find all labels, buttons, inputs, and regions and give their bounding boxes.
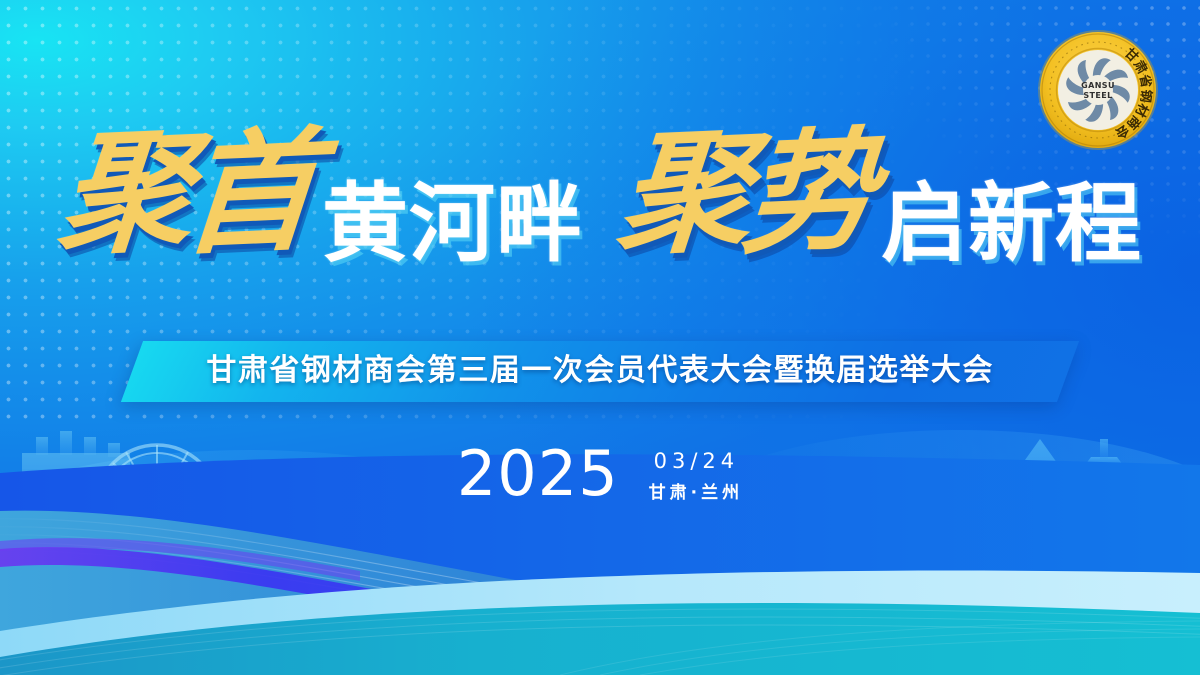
date-month-day: 03/24 [649, 449, 740, 473]
subtitle-bar: 甘肃省钢材商会第三届一次会员代表大会暨换届选举大会 [121, 341, 1079, 402]
date-location: 甘肃·兰州 [645, 478, 743, 503]
chamber-logo: 甘肃省钢材商会 GANSU STEEL [1036, 28, 1160, 152]
subtitle-bar-wrap: 甘肃省钢材商会第三届一次会员代表大会暨换届选举大会 [0, 341, 1200, 402]
date-block: 2025 03/24 甘肃·兰州 [0, 443, 1200, 505]
logo-center-line2: STEEL [1083, 91, 1112, 100]
date-year: 2025 [457, 443, 619, 505]
logo-center-line1: GANSU [1081, 81, 1115, 90]
conference-banner: 甘肃省钢材商会 GANSU STEEL 聚 首 黄河畔 [0, 0, 1200, 675]
date-detail: 03/24 甘肃·兰州 [645, 445, 743, 503]
subtitle-text: 甘肃省钢材商会第三届一次会员代表大会暨换届选举大会 [207, 354, 995, 387]
